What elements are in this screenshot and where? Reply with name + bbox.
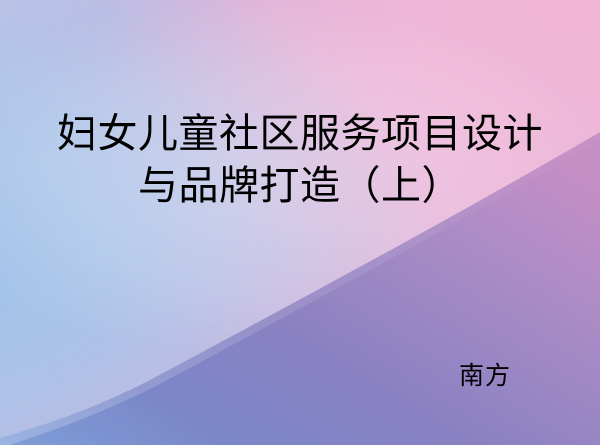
subtitle-text: 南方 (370, 360, 600, 392)
title-slide: 妇女儿童社区服务项目设计 与品牌打造（上） 南方 (0, 0, 600, 445)
page-title: 妇女儿童社区服务项目设计 与品牌打造（上） (0, 108, 600, 212)
subtitle: 南方 (0, 360, 600, 392)
title-line-1: 妇女儿童社区服务项目设计 (14, 108, 586, 160)
title-line-2: 与品牌打造（上） (14, 160, 586, 212)
